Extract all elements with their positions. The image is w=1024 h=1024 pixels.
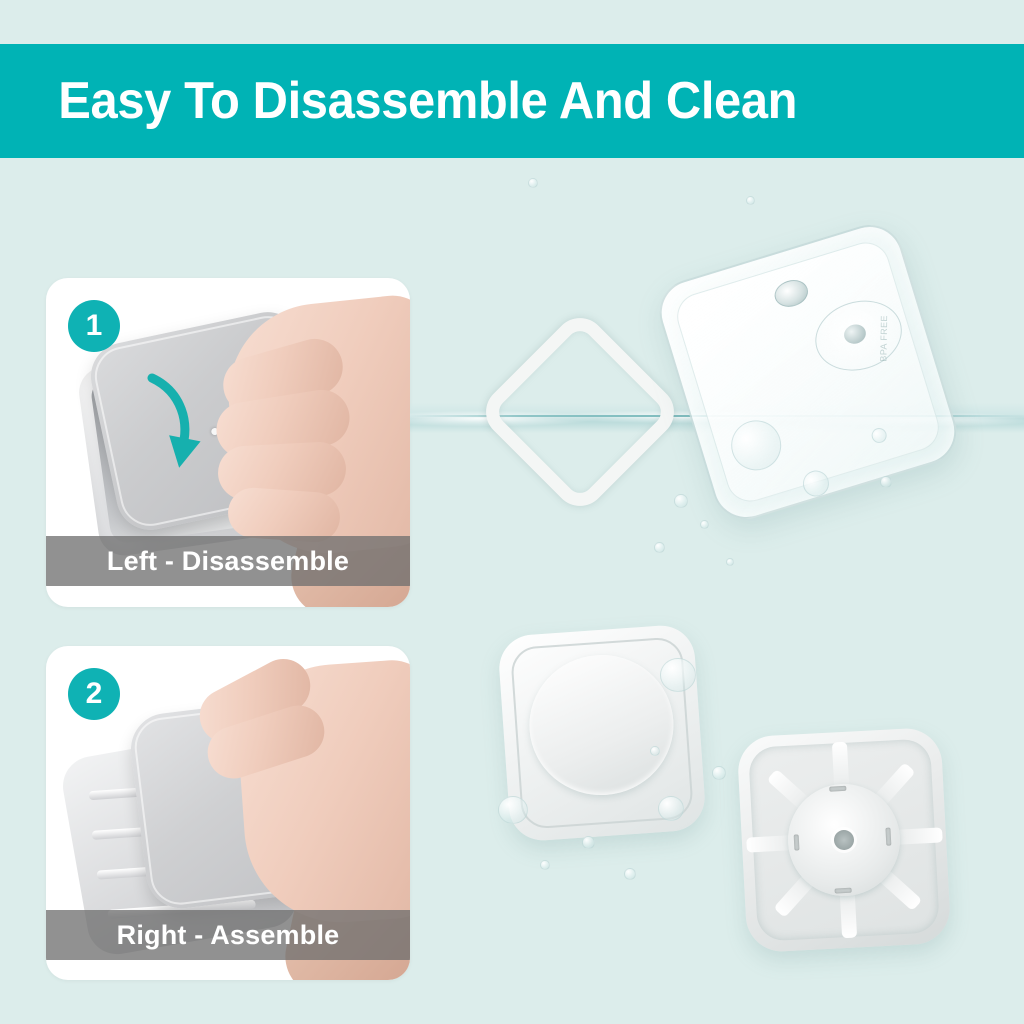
water-droplet bbox=[654, 542, 665, 553]
water-droplet bbox=[660, 658, 696, 692]
rotate-arrow-icon bbox=[138, 370, 212, 479]
water-droplet bbox=[624, 868, 636, 880]
step-card-2[interactable]: 2 Right - Assemble bbox=[46, 646, 410, 980]
water-droplet bbox=[674, 494, 688, 508]
water-droplet bbox=[658, 796, 684, 821]
transparent-container: BPA FREE bbox=[651, 217, 964, 528]
water-droplet bbox=[528, 178, 538, 188]
gear-icon bbox=[833, 829, 854, 850]
container-inner-wall bbox=[671, 237, 945, 508]
step-caption-bar-1: Left - Disassemble bbox=[46, 536, 410, 586]
infographic-stage: Easy To Disassemble And Clean 1 bbox=[0, 0, 1024, 1024]
water-droplet bbox=[700, 520, 709, 529]
water-droplet bbox=[712, 766, 726, 780]
lid-underside-part bbox=[736, 727, 951, 953]
hub-slot bbox=[829, 786, 846, 792]
container-emboss-text: BPA FREE bbox=[879, 315, 890, 362]
step-card-1[interactable]: 1 Left - Disassemble bbox=[46, 278, 410, 607]
hub-slot bbox=[885, 828, 891, 846]
hub-slot bbox=[835, 888, 852, 894]
page-title: Easy To Disassemble And Clean bbox=[0, 75, 797, 127]
water-droplet bbox=[540, 860, 550, 870]
hub-slot bbox=[794, 834, 800, 850]
step-caption-bar-2: Right - Assemble bbox=[46, 910, 410, 960]
water-droplet bbox=[582, 836, 595, 849]
step-caption-text-2: Right - Assemble bbox=[117, 920, 340, 951]
water-droplet bbox=[650, 746, 660, 756]
silicone-seal-ring bbox=[475, 307, 684, 516]
header-banner: Easy To Disassemble And Clean bbox=[0, 44, 1024, 158]
water-droplet bbox=[746, 196, 755, 205]
hero-product-scene: BPA FREE bbox=[410, 160, 1024, 1024]
water-droplet bbox=[498, 796, 528, 824]
step-caption-text-1: Left - Disassemble bbox=[107, 546, 349, 577]
water-droplet bbox=[726, 558, 734, 566]
step-badge-1: 1 bbox=[68, 300, 120, 352]
water-droplet bbox=[880, 476, 892, 488]
step-badge-2: 2 bbox=[68, 668, 120, 720]
